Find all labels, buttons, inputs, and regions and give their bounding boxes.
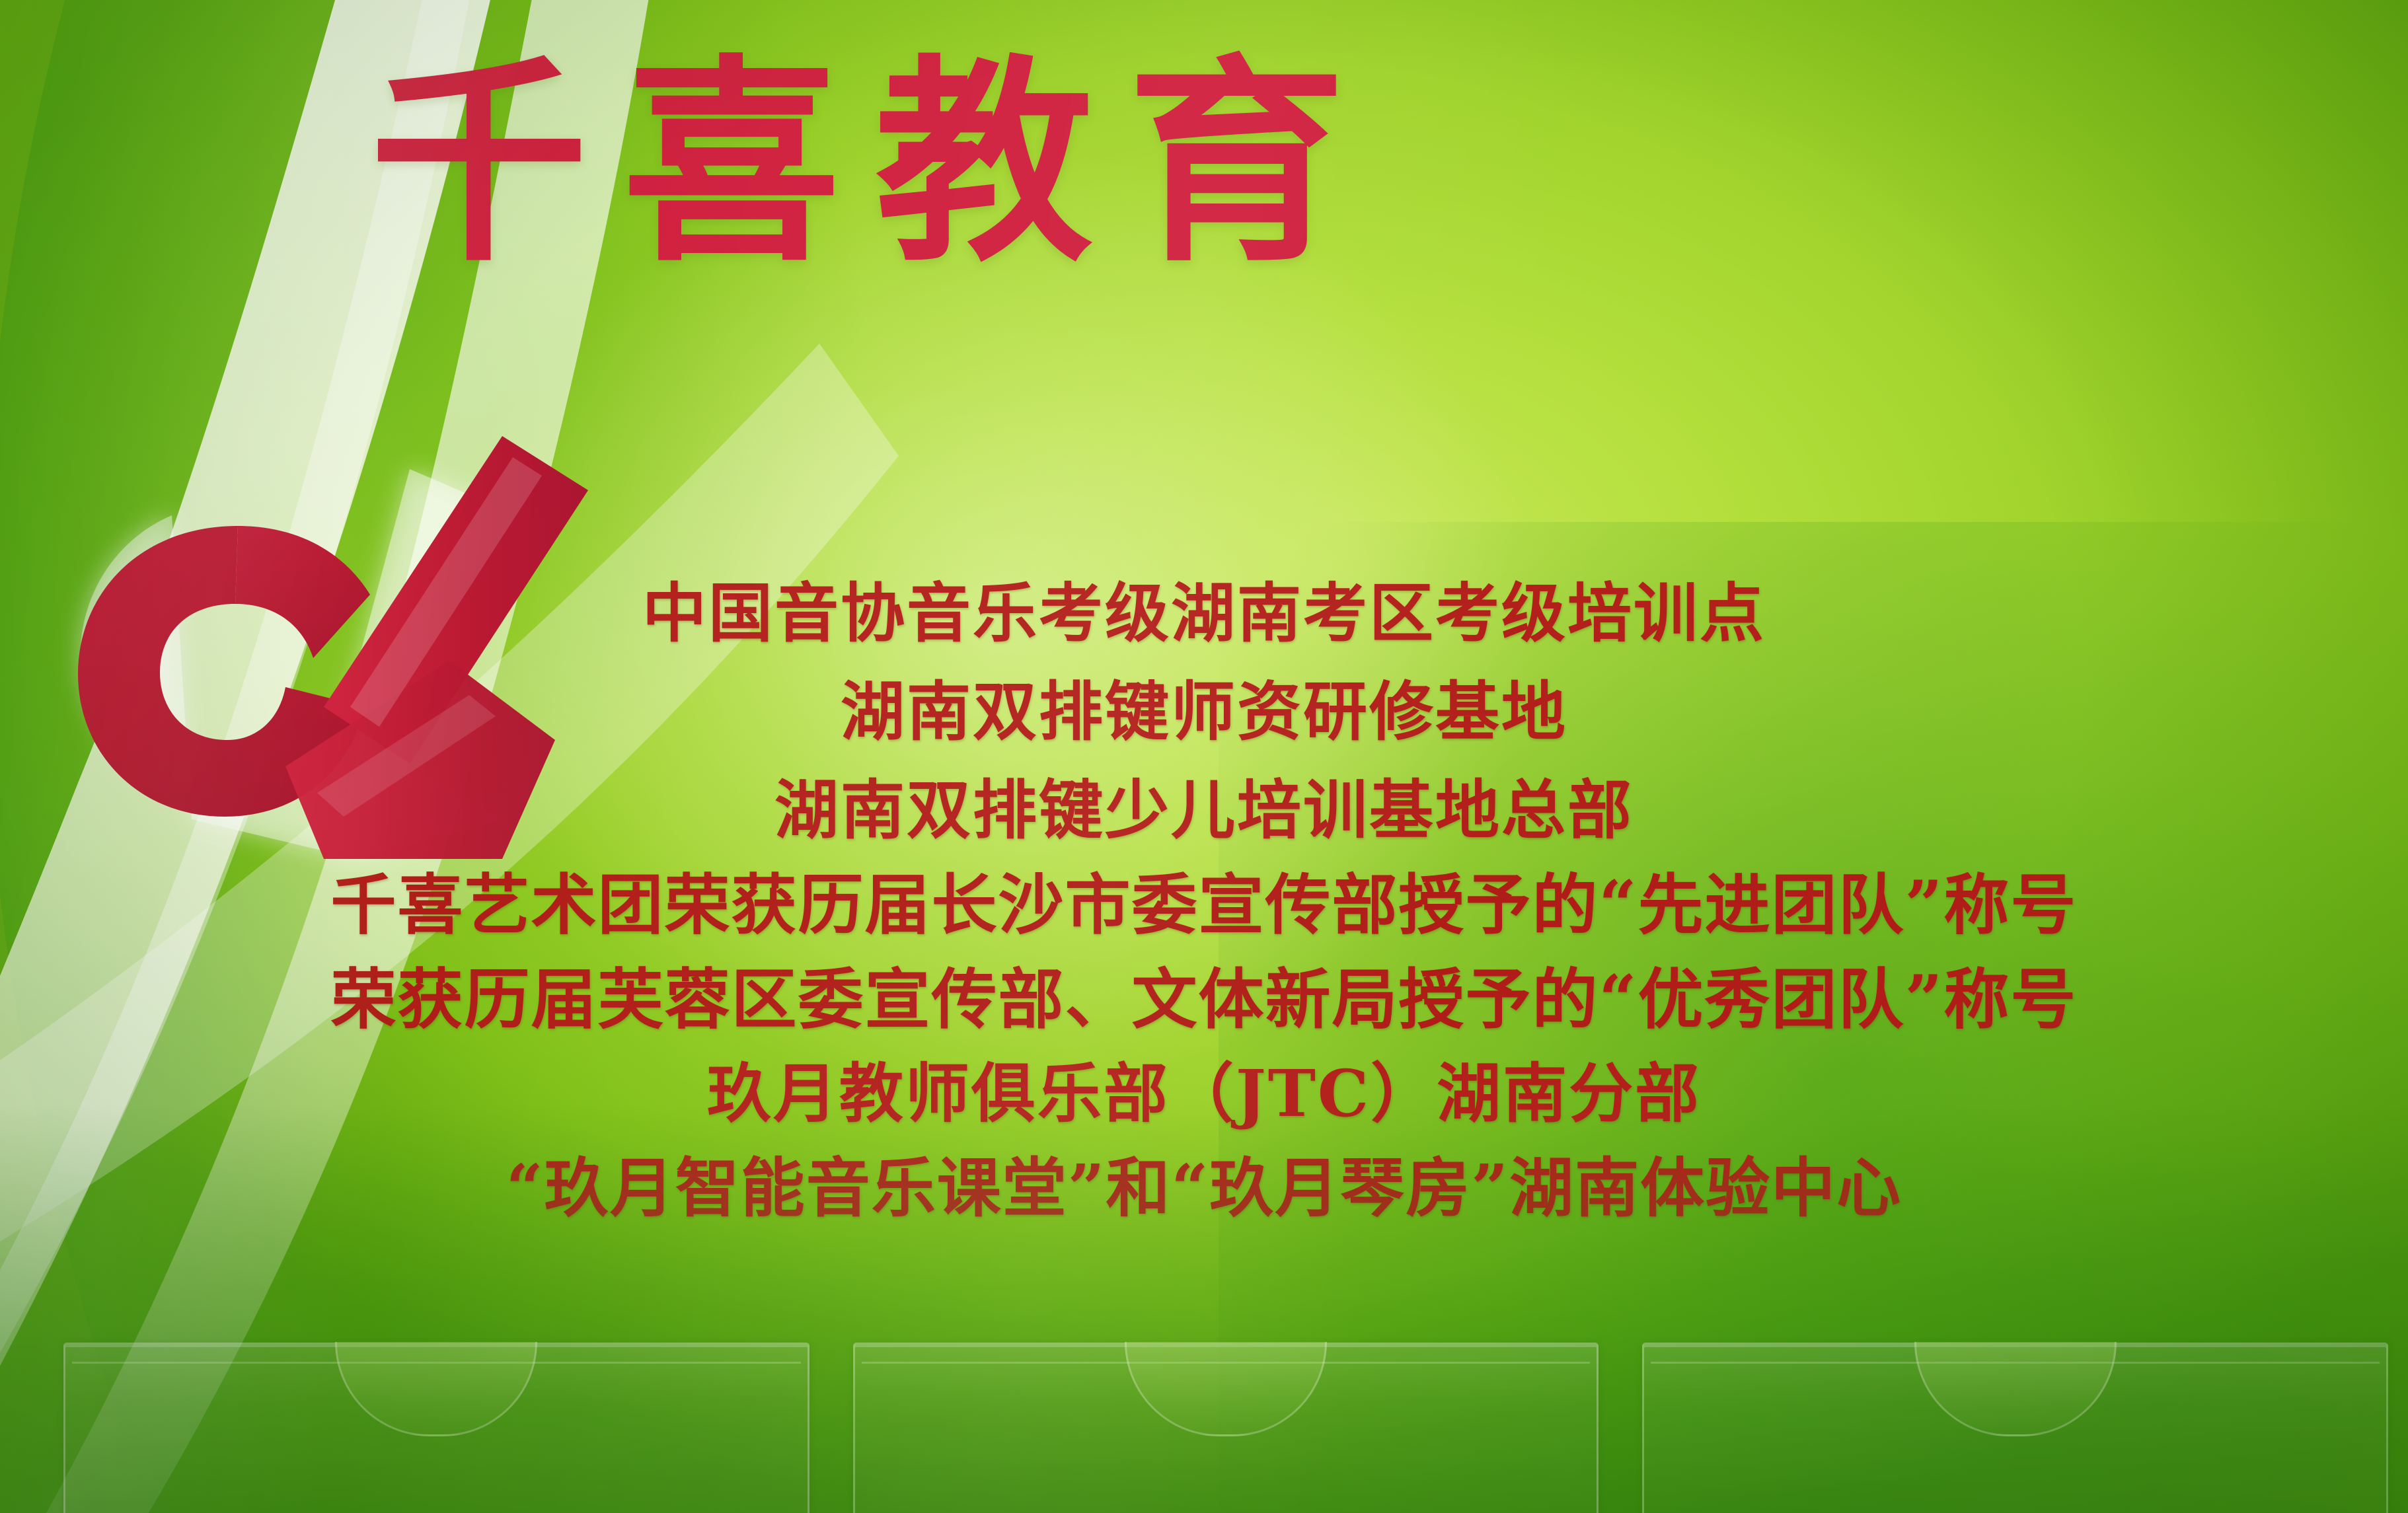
- credential-line: 湖南双排键师资研修基地: [0, 680, 2408, 744]
- credential-line: 荣获历届芙蓉区委宣传部、文体新局授予的“优秀团队”称号: [0, 967, 2408, 1033]
- credential-line: 中国音协音乐考级湖南考区考级培训点: [0, 581, 2408, 646]
- signboard: 千喜教育 中国音协音乐考级湖南考区考级培训点 湖南双排键师资研修基地 湖南双排键…: [0, 0, 2408, 1513]
- credential-line: 湖南双排键少儿培训基地总部: [0, 778, 2408, 842]
- credential-line: 千喜艺术团荣获历届长沙市委宣传部授予的“先进团队”称号: [0, 873, 2408, 938]
- page-title: 千喜教育: [370, 41, 2062, 285]
- background-bottom-shade: [0, 1103, 2408, 1513]
